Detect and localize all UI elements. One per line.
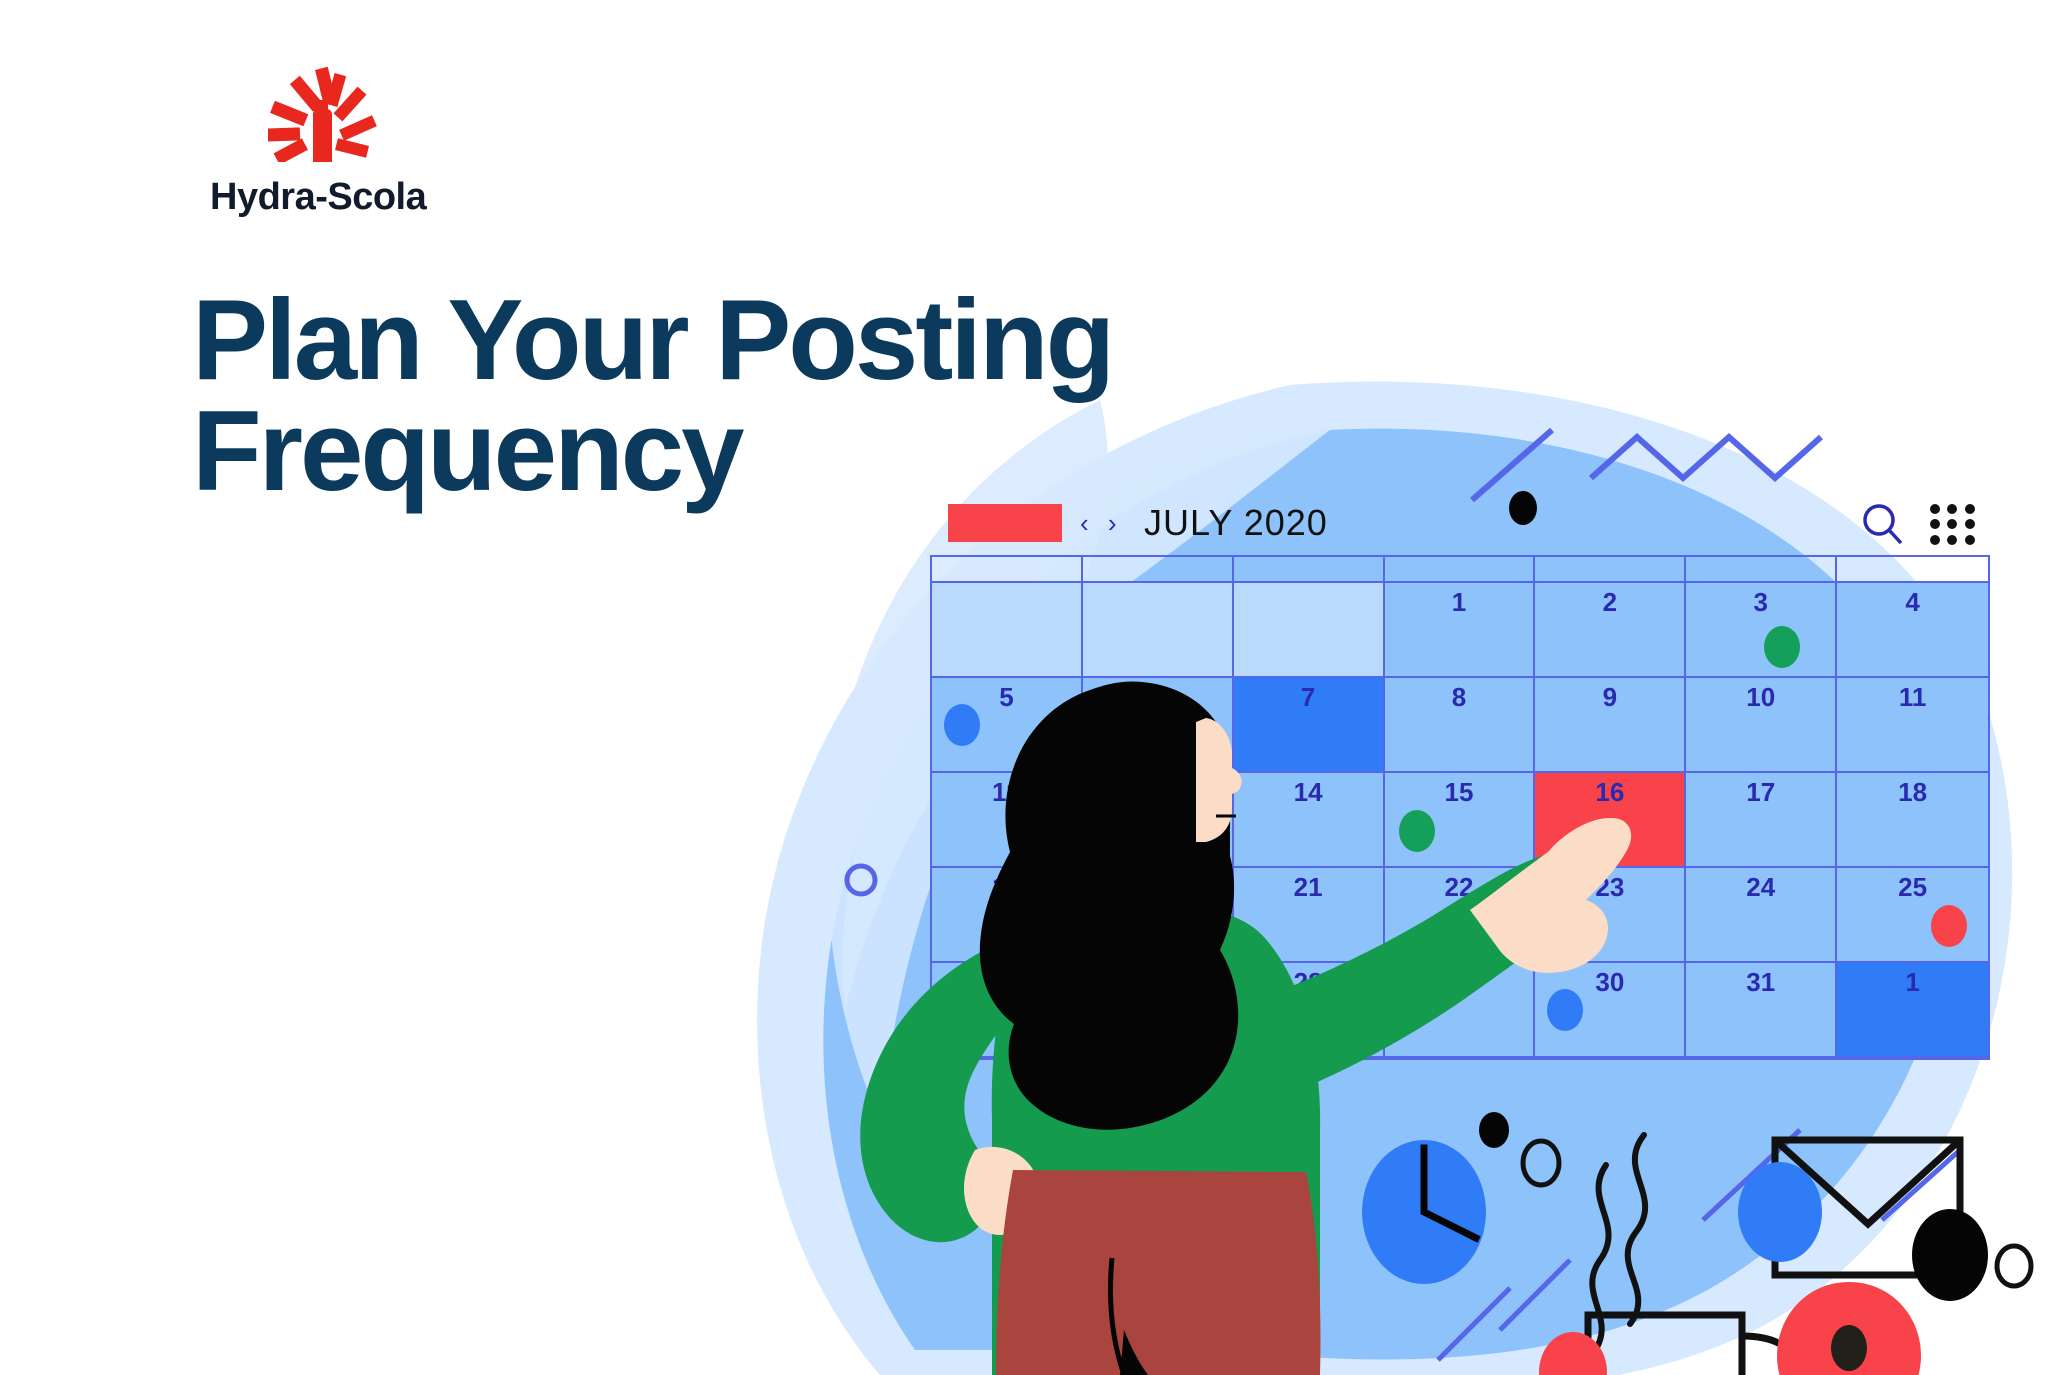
dot-black-large	[1912, 1209, 1988, 1301]
calendar-day-cell[interactable]: 7	[1234, 678, 1385, 773]
calendar-day-cell[interactable]: 17	[1686, 773, 1837, 868]
calendar-day-cell[interactable]: 8	[1385, 678, 1536, 773]
app-dot	[1965, 519, 1975, 529]
steam-icon-2	[1592, 1165, 1608, 1352]
left-hand	[964, 1147, 1039, 1235]
calendar-day-cell[interactable]: 12	[932, 773, 1083, 868]
calendar-empty-cell	[1234, 583, 1385, 678]
calendar-day-cell[interactable]: 30	[1535, 963, 1686, 1058]
diagonal-line	[1472, 430, 1552, 500]
calendar-day-number: 18	[1837, 779, 1988, 805]
calendar-day-cell[interactable]: 10	[1686, 678, 1837, 773]
calendar-day-number: 8	[1385, 684, 1534, 710]
calendar-event-dot[interactable]	[944, 704, 980, 746]
calendar-color-tag[interactable]	[948, 504, 1062, 542]
calendar-grid: 1234567891011121314151617181920212223242…	[930, 555, 1990, 1060]
app-dot	[1947, 519, 1957, 529]
calendar-event-dot[interactable]	[1931, 905, 1967, 947]
calendar-day-number: 22	[1385, 874, 1534, 900]
skirt-fold-line	[1111, 1258, 1125, 1375]
map-pin-icon	[1777, 1282, 1921, 1375]
calendar-day-cell[interactable]: 19	[932, 868, 1083, 963]
ring-outline-black-2	[1997, 1246, 2031, 1286]
calendar-day-cell[interactable]: 2	[1535, 583, 1686, 678]
calendar-day-number: 16	[1535, 779, 1684, 805]
calendar-weekday-header	[1837, 557, 1988, 583]
dot-blue-envelope	[1738, 1162, 1822, 1262]
app-dot	[1947, 535, 1957, 545]
calendar-day-number: 24	[1686, 874, 1835, 900]
calendar-empty-cell	[1083, 583, 1234, 678]
calendar-day-cell[interactable]: 28	[1234, 963, 1385, 1058]
calendar-day-cell[interactable]: 27	[1083, 963, 1234, 1058]
calendar-day-cell[interactable]: 15	[1385, 773, 1536, 868]
calendar-day-number: 26	[932, 969, 1081, 995]
ring-outline-purple	[847, 866, 875, 894]
sunburst-icon	[268, 66, 378, 162]
calendar-empty-cell	[932, 583, 1083, 678]
calendar-day-cell[interactable]: 24	[1686, 868, 1837, 963]
calendar-day-number: 27	[1083, 969, 1232, 995]
page-title-line-2: Frequency	[192, 397, 1392, 508]
calendar-day-cell[interactable]: 9	[1535, 678, 1686, 773]
calendar-day-cell[interactable]: 21	[1234, 868, 1385, 963]
slide-canvas: Hydra-Scola Plan Your Posting Frequency …	[0, 0, 2048, 1375]
calendar-day-cell[interactable]: 1	[1385, 583, 1536, 678]
calendar-day-number: 13	[1083, 779, 1232, 805]
calendar-day-cell[interactable]: 18	[1837, 773, 1988, 868]
calendar-day-number: 29	[1385, 969, 1534, 995]
calendar-day-number: 9	[1535, 684, 1684, 710]
calendar-nav-arrows[interactable]: ‹ ›	[1080, 508, 1123, 539]
app-dot	[1930, 504, 1940, 514]
calendar-day-number: 31	[1686, 969, 1835, 995]
envelope-flap	[1775, 1140, 1960, 1224]
calendar-day-number: 4	[1837, 589, 1988, 615]
app-dot	[1947, 504, 1957, 514]
calendar-day-cell[interactable]: 20	[1083, 868, 1234, 963]
dot-black-small	[1479, 1112, 1509, 1148]
page-title: Plan Your Posting Frequency	[192, 286, 1392, 507]
skirt-shadow	[1120, 1330, 1148, 1375]
calendar-weekday-header	[1083, 557, 1234, 583]
calendar-day-number: 25	[1837, 874, 1988, 900]
calendar-day-number: 28	[1234, 969, 1383, 995]
dot-red-cup	[1539, 1332, 1607, 1375]
calendar-event-dot[interactable]	[1764, 626, 1800, 668]
calendar-day-number: 10	[1686, 684, 1835, 710]
calendar-day-cell[interactable]: 25	[1837, 868, 1988, 963]
diagonal-line-4	[1500, 1260, 1570, 1330]
calendar-day-number: 2	[1535, 589, 1684, 615]
calendar-weekday-header	[1686, 557, 1837, 583]
calendar-event-dot[interactable]	[1547, 989, 1583, 1031]
map-pin-hole	[1831, 1325, 1867, 1371]
search-icon[interactable]	[1860, 502, 1904, 546]
clock-hands	[1424, 1148, 1476, 1238]
calendar-day-cell[interactable]: 29	[1385, 963, 1536, 1058]
calendar-toolbar: ‹ › JULY 2020	[948, 500, 2008, 548]
coffee-cup-handle	[1742, 1336, 1800, 1375]
calendar-day-cell[interactable]: 16	[1535, 773, 1686, 868]
diagonal-line-3	[1882, 1150, 1960, 1220]
apps-grid-icon[interactable]	[1930, 504, 1978, 546]
calendar-day-number: 1	[1837, 969, 1988, 995]
calendar-day-number: 14	[1234, 779, 1383, 805]
steam-icon	[1628, 1135, 1645, 1324]
calendar-day-number: 1	[1385, 589, 1534, 615]
calendar-day-cell[interactable]: 14	[1234, 773, 1385, 868]
diagonal-line-5	[1438, 1288, 1510, 1360]
calendar-weekday-header	[1535, 557, 1686, 583]
calendar-day-cell[interactable]: 13	[1083, 773, 1234, 868]
arc-line	[908, 1164, 1000, 1210]
page-title-line-1: Plan Your Posting	[192, 286, 1392, 397]
calendar-day-number: 11	[1837, 684, 1988, 710]
calendar-day-cell[interactable]: 6	[1083, 678, 1234, 773]
zigzag-line	[1591, 437, 1821, 478]
diagonal-line-2	[1703, 1130, 1800, 1220]
skirt	[996, 1170, 1320, 1375]
calendar-day-number: 19	[932, 874, 1081, 900]
ring-outline-black	[1523, 1141, 1559, 1185]
app-dot	[1965, 504, 1975, 514]
calendar-day-number: 6	[1083, 684, 1232, 710]
calendar-month-label: JULY 2020	[1144, 502, 1328, 544]
calendar-day-number: 12	[932, 779, 1081, 805]
calendar-weekday-header	[1234, 557, 1385, 583]
envelope-icon	[1775, 1140, 1960, 1275]
calendar-day-number: 20	[1083, 874, 1232, 900]
calendar-day-cell[interactable]: 11	[1837, 678, 1988, 773]
brand-logo[interactable]: Hydra-Scola	[210, 66, 470, 226]
calendar-day-cell[interactable]: 23	[1535, 868, 1686, 963]
calendar-day-number: 3	[1686, 589, 1835, 615]
calendar-day-cell[interactable]: 4	[1837, 583, 1988, 678]
calendar-day-cell[interactable]: 22	[1385, 868, 1536, 963]
calendar-weekday-header	[1385, 557, 1536, 583]
clock-icon	[1362, 1140, 1486, 1284]
calendar-day-cell[interactable]: 26	[932, 963, 1083, 1058]
calendar-day-number: 15	[1385, 779, 1534, 805]
calendar-day-cell[interactable]: 3	[1686, 583, 1837, 678]
calendar-weekday-header	[932, 557, 1083, 583]
app-dot	[1930, 535, 1940, 545]
app-dot	[1965, 535, 1975, 545]
calendar-event-dot[interactable]	[1399, 810, 1435, 852]
coffee-cup-icon	[1588, 1315, 1742, 1375]
calendar-day-cell[interactable]: 31	[1686, 963, 1837, 1058]
brand-wordmark: Hydra-Scola	[210, 176, 470, 219]
calendar-day-cell[interactable]: 5	[932, 678, 1083, 773]
app-dot	[1930, 519, 1940, 529]
calendar-day-number: 7	[1234, 684, 1383, 710]
calendar-day-number: 17	[1686, 779, 1835, 805]
calendar-day-number: 23	[1535, 874, 1684, 900]
calendar-day-number: 21	[1234, 874, 1383, 900]
calendar-day-cell[interactable]: 1	[1837, 963, 1988, 1058]
calendar-widget[interactable]: 1234567891011121314151617181920212223242…	[930, 555, 1990, 1060]
